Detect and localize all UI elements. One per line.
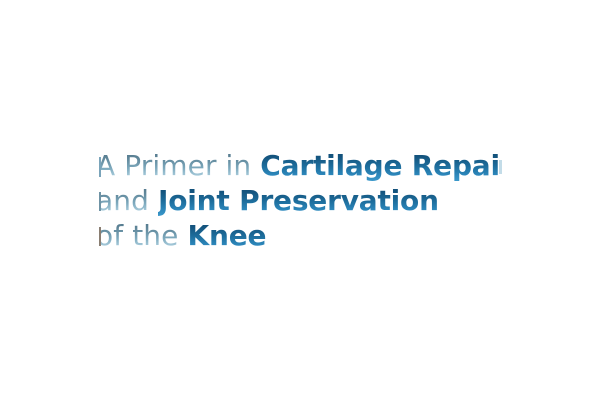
title-line-3: of the Knee [99,218,500,253]
title-line-2: and Joint Preservation [99,183,500,218]
title-banner: A Primer in Cartilage Repair and Joint P… [0,0,600,400]
title-line-1-bold-run: Cartilage Repair [260,149,500,182]
title-line-3-bold-run: Knee [187,219,266,252]
title-line-2-light-run: and [99,184,149,217]
title-line-2-space [149,184,158,217]
title-line-1-light-run: A Primer in [99,149,251,182]
title-line-3-light-run: of the [99,219,178,252]
title-line-1: A Primer in Cartilage Repair [99,148,500,183]
title-line-1-space [251,149,260,182]
title-line-2-bold-run: Joint Preservation [158,184,439,217]
title-clip-region: A Primer in Cartilage Repair and Joint P… [99,148,500,256]
title-block: A Primer in Cartilage Repair and Joint P… [99,148,500,253]
